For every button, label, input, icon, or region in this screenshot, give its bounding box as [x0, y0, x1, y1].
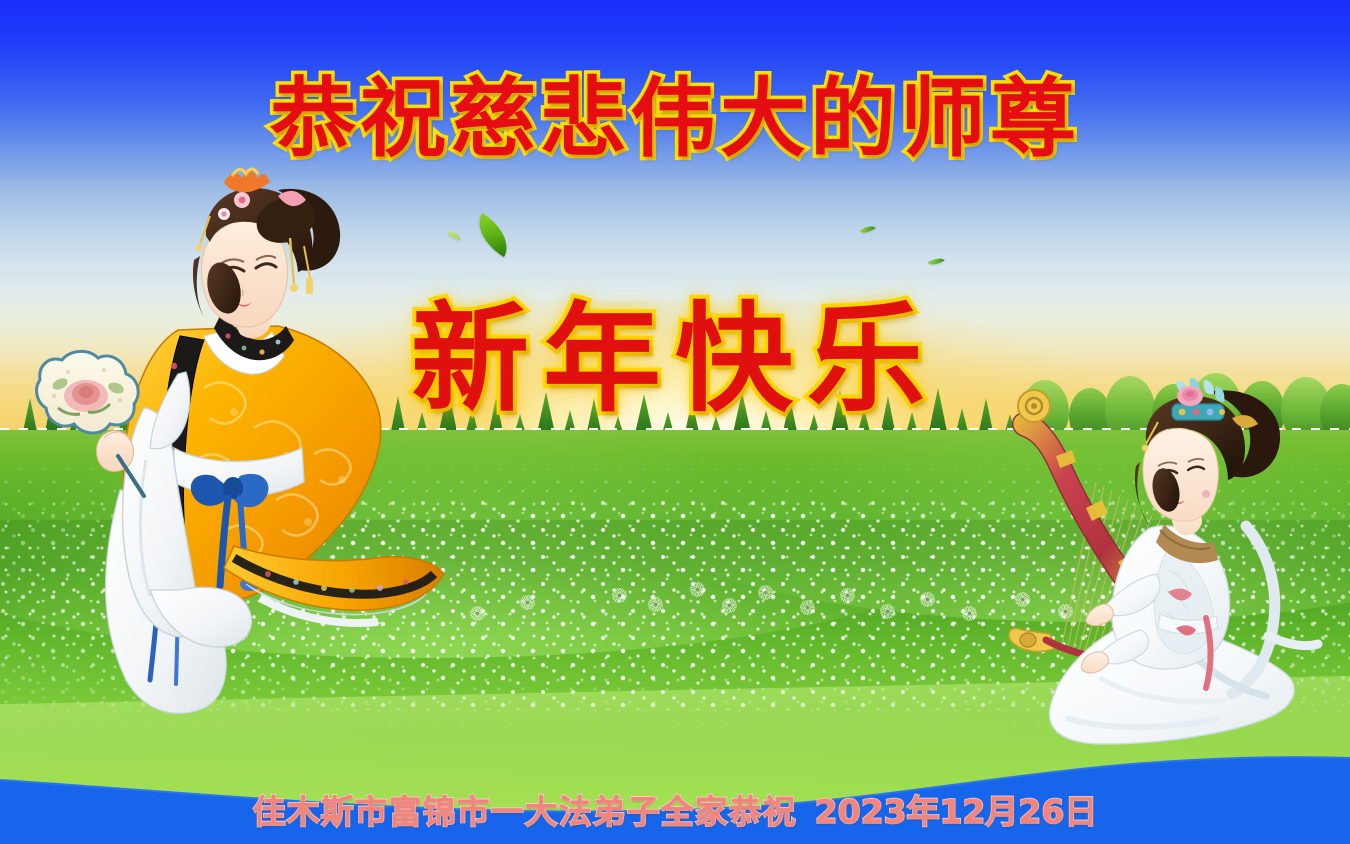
greeting-card: 恭祝慈悲伟大的师尊 新年快乐 佳木斯市富锦市一大法弟子全家恭祝2023年12月2… [0, 0, 1350, 844]
caption-sender: 佳木斯市富锦市一大法弟子全家恭祝 [253, 792, 797, 831]
caption-date: 2023年12月26日 [815, 792, 1098, 831]
subline-new-year: 新年快乐 [0, 300, 1350, 418]
celestial-lady-with-fan [28, 160, 458, 720]
caption-signature: 佳木斯市富锦市一大法弟子全家恭祝2023年12月26日 [0, 794, 1350, 830]
headline-greeting: 恭祝慈悲伟大的师尊 [0, 76, 1350, 162]
hand [96, 431, 133, 472]
